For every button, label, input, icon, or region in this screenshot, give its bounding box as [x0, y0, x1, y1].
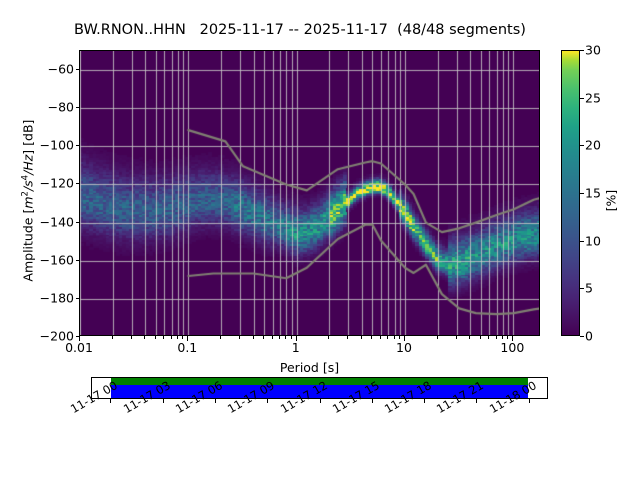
colorbar: [561, 50, 580, 336]
colorbar-tick-label: 5: [585, 281, 593, 296]
x-tick-mark: [380, 336, 381, 339]
x-tick-mark: [328, 336, 329, 339]
x-tick-mark: [507, 336, 508, 339]
colorbar-tick-mark: [580, 98, 584, 99]
timeline-tick-mark: [476, 399, 477, 403]
page-title: BW.RNON..HHN 2025-11-17 -- 2025-11-17 (4…: [0, 22, 600, 38]
y-tick-label: −160: [8, 252, 74, 267]
x-tick-mark: [488, 336, 489, 339]
x-tick-mark: [361, 336, 362, 339]
x-tick-mark: [163, 336, 164, 339]
x-tick-mark: [371, 336, 372, 339]
x-tick-mark: [220, 336, 221, 339]
colorbar-tick-mark: [580, 336, 584, 337]
x-tick-mark: [394, 336, 395, 339]
y-tick-mark: [76, 222, 80, 223]
x-tick-mark: [291, 336, 292, 339]
timeline-tick-mark: [215, 399, 216, 403]
y-tick-mark: [76, 107, 80, 108]
x-tick-mark: [404, 336, 405, 341]
x-tick-mark: [285, 336, 286, 339]
colorbar-tick-label: 20: [585, 138, 601, 153]
colorbar-tick-label: 15: [585, 186, 601, 201]
x-tick-mark: [469, 336, 470, 339]
y-tick-labels: −60−80−100−120−140−160−180−200: [0, 0, 74, 480]
y-tick-label: −100: [8, 138, 74, 153]
y-tick-label: −60: [8, 62, 74, 77]
timeline-tick-mark: [529, 399, 530, 403]
x-tick-mark: [387, 336, 388, 339]
y-tick-label: −180: [8, 290, 74, 305]
y-tick-mark: [76, 298, 80, 299]
x-tick-mark: [437, 336, 438, 339]
colorbar-tick-label: 0: [585, 329, 593, 344]
y-tick-label: −120: [8, 176, 74, 191]
colorbar-tick-label: 25: [585, 90, 601, 105]
x-tick-mark: [480, 336, 481, 339]
x-tick-mark: [112, 336, 113, 339]
y-tick-mark: [76, 69, 80, 70]
x-axis-label: Period [s]: [79, 360, 540, 375]
x-tick-mark: [347, 336, 348, 339]
x-tick-mark: [502, 336, 503, 339]
x-tick-mark: [512, 336, 513, 341]
colorbar-tick-label: 10: [585, 233, 601, 248]
ppsd-density-canvas: [80, 51, 540, 336]
timeline-tick-mark: [110, 399, 111, 403]
x-tick-mark: [263, 336, 264, 339]
x-tick-mark: [456, 336, 457, 339]
x-tick-mark: [296, 336, 297, 341]
x-tick-mark: [253, 336, 254, 339]
x-tick-mark: [155, 336, 156, 339]
timeline-tick-mark: [163, 399, 164, 403]
x-tick-mark: [131, 336, 132, 339]
x-tick-label: 10: [396, 340, 412, 355]
y-tick-label: −80: [8, 100, 74, 115]
x-tick-mark: [177, 336, 178, 339]
x-tick-label: 0.1: [177, 340, 197, 355]
x-tick-mark: [279, 336, 280, 339]
x-tick-mark: [239, 336, 240, 339]
x-tick-mark: [171, 336, 172, 339]
colorbar-tick-label: 30: [585, 43, 601, 58]
x-tick-mark: [144, 336, 145, 339]
colorbar-tick-mark: [580, 50, 584, 51]
x-tick-mark: [272, 336, 273, 339]
x-tick-mark: [79, 336, 80, 341]
y-tick-mark: [76, 260, 80, 261]
y-tick-label: −140: [8, 214, 74, 229]
timeline-tick-mark: [424, 399, 425, 403]
colorbar-label: [%]: [603, 190, 618, 212]
timeline-tick-mark: [267, 399, 268, 403]
colorbar-tick-mark: [580, 241, 584, 242]
x-tick-mark: [182, 336, 183, 339]
colorbar-tick-mark: [580, 193, 584, 194]
x-tick-mark: [399, 336, 400, 339]
y-tick-mark: [76, 183, 80, 184]
x-tick-label: 1: [292, 340, 300, 355]
ppsd-figure: BW.RNON..HHN 2025-11-17 -- 2025-11-17 (4…: [0, 0, 640, 480]
x-tick-label: 0.01: [65, 340, 93, 355]
x-tick-mark: [496, 336, 497, 339]
ppsd-plot-area: [79, 50, 540, 336]
colorbar-tick-mark: [580, 145, 584, 146]
y-tick-mark: [76, 145, 80, 146]
timeline-tick-mark: [320, 399, 321, 403]
x-tick-mark: [187, 336, 188, 341]
timeline-tick-mark: [372, 399, 373, 403]
x-tick-label: 100: [500, 340, 524, 355]
colorbar-tick-mark: [580, 288, 584, 289]
